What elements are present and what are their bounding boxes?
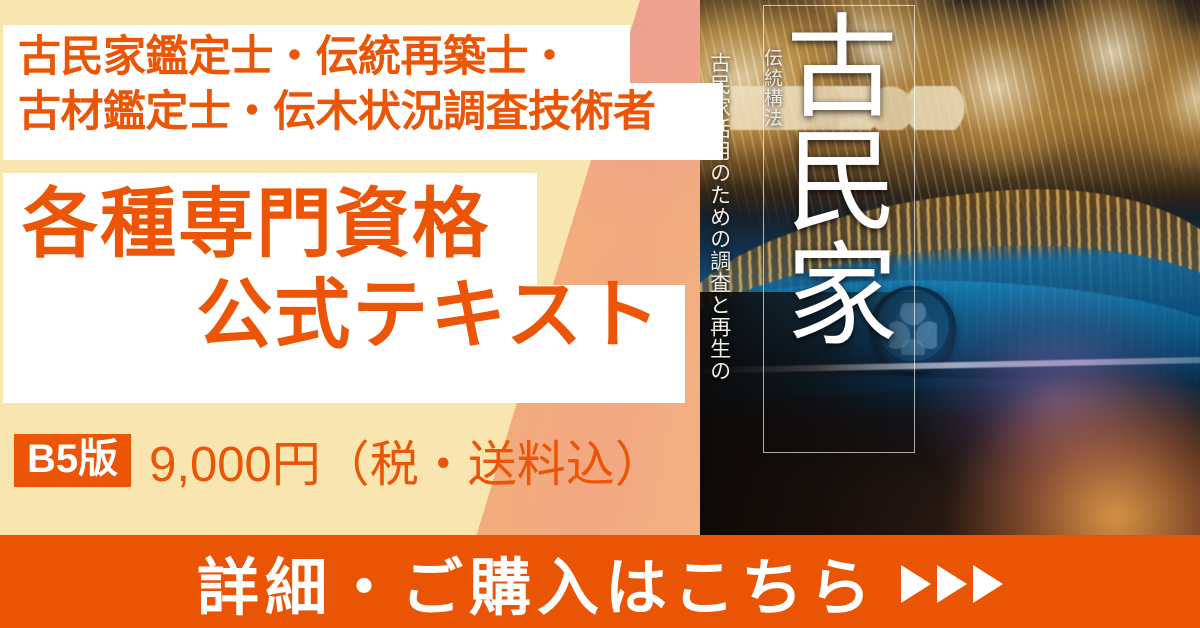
main-copy: 各種専門資格 公式テキスト	[22, 184, 682, 357]
cta-arrows	[901, 565, 1003, 603]
main-copy-line-1: 各種専門資格	[22, 184, 682, 265]
headline-line-1: 古民家鑑定士・伝統再築士・	[18, 30, 718, 85]
triangle-right-icon	[901, 565, 931, 603]
triangle-right-icon	[973, 565, 1003, 603]
promo-banner: 古民家 伝統構法 古民家活用のための調査と再生の 古民家鑑定士・伝統再築士・ 古…	[0, 0, 1200, 628]
cta-bar[interactable]: 詳細・ご購入はこちら	[0, 535, 1200, 628]
headline-line-2: 古材鑑定士・伝木状況調査技術者	[18, 85, 718, 140]
price-text: 9,000円（税・送料込）	[149, 425, 664, 496]
format-badge: B5版	[14, 434, 131, 487]
cta-label: 詳細・ご購入はこちら	[197, 537, 877, 627]
book-cover-image: 古民家 伝統構法 古民家活用のための調査と再生の	[700, 0, 1200, 540]
main-copy-line-2: 公式テキスト	[22, 275, 682, 356]
triangle-right-icon	[937, 565, 967, 603]
price-row: B5版 9,000円（税・送料込）	[14, 429, 664, 491]
headline: 古民家鑑定士・伝統再築士・ 古材鑑定士・伝木状況調査技術者	[18, 30, 718, 140]
cover-band-top-text: 伝統構法	[758, 48, 785, 168]
cover-title-text: 古民家	[782, 8, 898, 350]
